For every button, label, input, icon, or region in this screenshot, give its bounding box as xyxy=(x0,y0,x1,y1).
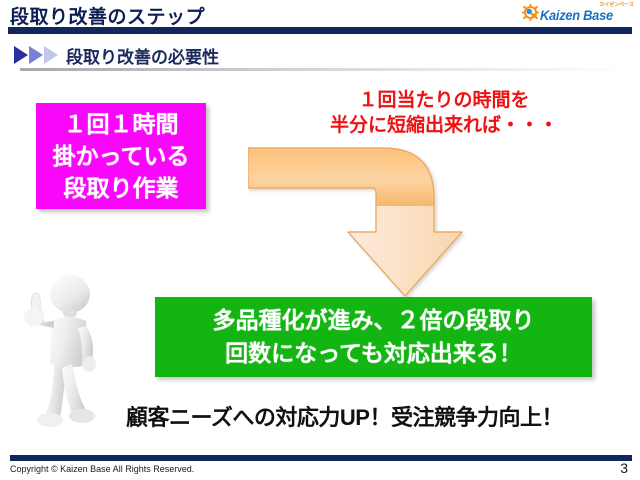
bent-down-arrow-icon xyxy=(248,146,490,298)
triple-chevron-icon xyxy=(14,45,62,65)
magenta-line-2: 掛かっている xyxy=(53,140,190,172)
red-caption-line-1: １回当たりの時間を xyxy=(330,88,558,113)
future-state-callout: 多品種化が進み、２倍の段取り 回数になっても対応出来る！ xyxy=(155,297,592,377)
slide-canvas: 段取り改善のステップ カイゼンベース xyxy=(0,0,640,480)
red-question-caption: １回当たりの時間を 半分に短縮出来れば・・・ xyxy=(330,88,558,138)
kaizen-base-logo: カイゼンベース Kaizen Base xyxy=(518,1,636,25)
title-underline-bar xyxy=(8,27,632,34)
section-heading: 段取り改善の必要性 xyxy=(66,43,219,68)
current-state-callout: １回１時間 掛かっている 段取り作業 xyxy=(36,103,206,209)
footer-bar xyxy=(10,455,632,461)
logo-wordmark: Kaizen Base xyxy=(540,7,613,23)
thumbs-up-figure-illustration xyxy=(12,272,124,432)
gear-sun-icon xyxy=(522,4,539,21)
page-number: 3 xyxy=(620,460,628,476)
magenta-line-1: １回１時間 xyxy=(64,108,179,140)
magenta-line-3: 段取り作業 xyxy=(64,172,179,204)
green-line-1: 多品種化が進み、２倍の段取り xyxy=(213,304,535,337)
page-title: 段取り改善のステップ xyxy=(10,2,205,29)
red-caption-line-2: 半分に短縮出来れば・・・ xyxy=(330,113,558,138)
section-divider xyxy=(20,68,632,71)
green-line-2: 回数になっても対応出来る！ xyxy=(225,337,522,370)
benefit-statement: 顧客ニーズへの対応力UP！受注競争力向上！ xyxy=(126,400,563,432)
footer-copyright: Copyright © Kaizen Base All Rights Reser… xyxy=(10,464,194,474)
